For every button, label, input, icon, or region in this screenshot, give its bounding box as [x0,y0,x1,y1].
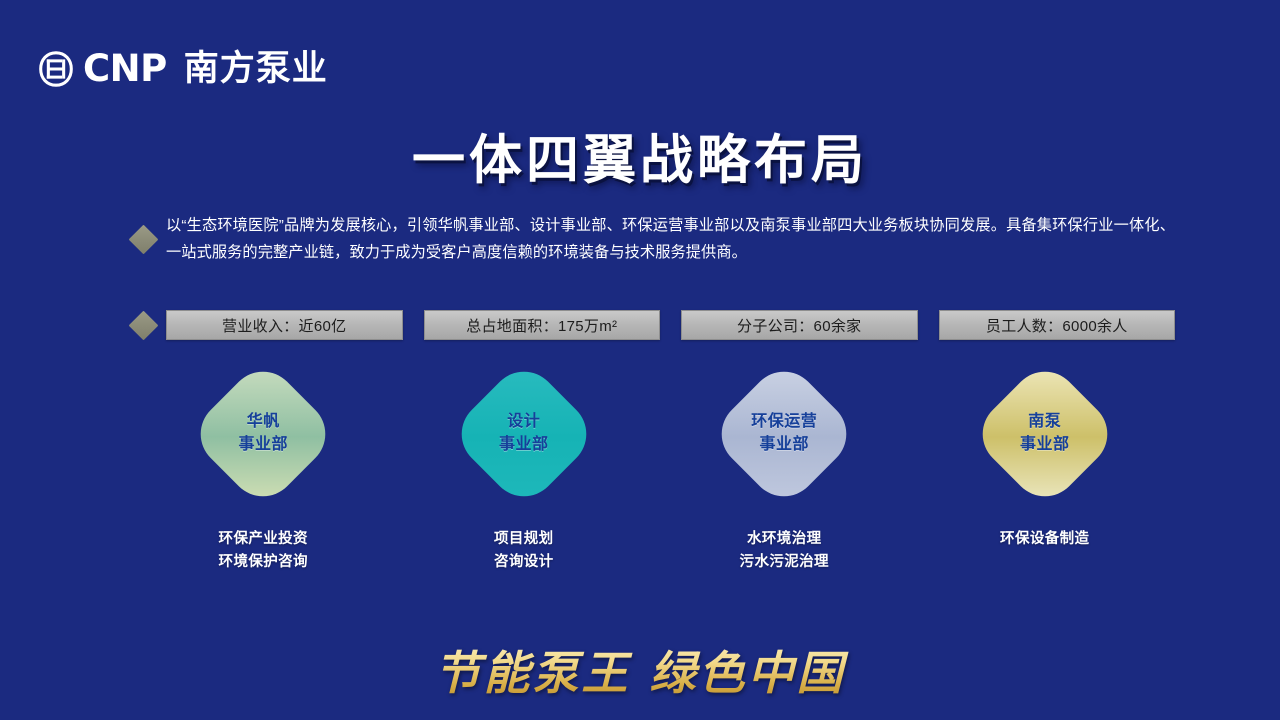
caption-line1: 项目规划 [494,528,554,551]
caption-line1: 水环境治理 [740,528,829,551]
pillars-row: 华帆 事业部 环保产业投资 环境保护咨询 设计 事业部 项目规划 咨询设计 [133,358,1175,575]
gem-label: 环保运营 事业部 [751,411,817,456]
stat-label: 总占地面积：175万m² [466,315,617,336]
stat-label: 营业收入：近60亿 [222,315,346,336]
slide-root: CNP 南方泵业 一体四翼战略布局 以“生态环境医院”品牌为发展核心，引领华帆事… [0,0,1280,720]
gem-label: 南泵 事业部 [1020,411,1070,456]
cnp-monogram-icon [38,51,74,87]
caption-line2: 污水污泥治理 [740,551,829,574]
brand-logo: CNP 南方泵业 [38,50,328,87]
caption-line2: 环境保护咨询 [219,551,308,574]
stat-card: 营业收入：近60亿 [166,310,403,340]
stat-label: 分子公司：60余家 [737,315,861,336]
brand-name-cn: 南方泵业 [184,51,328,86]
gem-label-line1: 设计 [507,413,540,430]
diamond-bullet-icon [129,310,159,340]
pillar-huanbaoyunying: 环保运营 事业部 水环境治理 污水污泥治理 [654,358,915,575]
pillar-caption: 环保设备制造 [1000,528,1089,551]
gem-shape-sheji: 设计 事业部 [448,358,600,510]
pillar-sheji: 设计 事业部 项目规划 咨询设计 [394,358,655,575]
gem-label-line2: 事业部 [499,434,549,457]
intro-block: 以“生态环境医院”品牌为发展核心，引领华帆事业部、设计事业部、环保运营事业部以及… [133,212,1175,266]
gem-shape-nanbeng: 南泵 事业部 [969,358,1121,510]
stats-block: 营业收入：近60亿 总占地面积：175万m² 分子公司：60余家 员工人数：60… [133,310,1175,340]
pillar-caption: 项目规划 咨询设计 [494,528,554,575]
brand-name-en: CNP [83,50,167,87]
gem-label-line2: 事业部 [751,434,817,457]
gem-label-line2: 事业部 [238,434,288,457]
stat-card: 员工人数：6000余人 [939,310,1176,340]
footer-slogan: 节能泵王 绿色中国 [0,637,1280,703]
pillar-huafan: 华帆 事业部 环保产业投资 环境保护咨询 [133,358,394,575]
caption-line1: 环保设备制造 [1000,528,1089,551]
intro-text: 以“生态环境医院”品牌为发展核心，引领华帆事业部、设计事业部、环保运营事业部以及… [166,212,1175,266]
gem-label-line2: 事业部 [1020,434,1070,457]
gem-label: 华帆 事业部 [238,411,288,456]
pillar-caption: 水环境治理 污水污泥治理 [740,528,829,575]
stat-card: 分子公司：60余家 [681,310,918,340]
caption-line1: 环保产业投资 [219,528,308,551]
gem-label-line1: 环保运营 [751,413,817,430]
stat-card: 总占地面积：175万m² [424,310,661,340]
pillar-nanbeng: 南泵 事业部 环保设备制造 [915,358,1176,575]
stats-list: 营业收入：近60亿 总占地面积：175万m² 分子公司：60余家 员工人数：60… [166,310,1175,340]
diamond-bullet-icon [129,224,159,254]
caption-line2: 咨询设计 [494,551,554,574]
stat-label: 员工人数：6000余人 [986,315,1128,336]
page-title: 一体四翼战略布局 [0,131,1280,190]
gem-label: 设计 事业部 [499,411,549,456]
pillar-caption: 环保产业投资 环境保护咨询 [219,528,308,575]
gem-label-line1: 南泵 [1028,413,1061,430]
gem-label-line1: 华帆 [247,413,280,430]
gem-shape-huafan: 华帆 事业部 [187,358,339,510]
gem-shape-huanbaoyunying: 环保运营 事业部 [708,358,860,510]
